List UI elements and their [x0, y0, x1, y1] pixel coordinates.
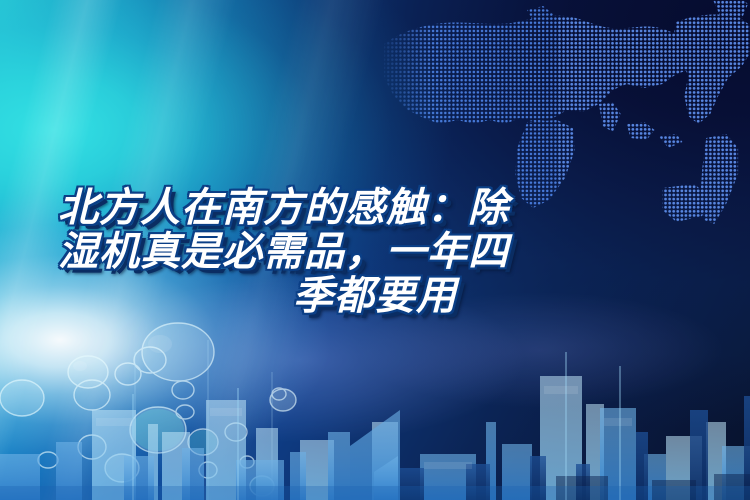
headline-line-1: 北方人在南方的感触：除 [58, 186, 692, 230]
headline-line-2: 湿机真是必需品，一年四 [58, 230, 692, 274]
banner-image: 北方人在南方的感触：除 湿机真是必需品，一年四 季都要用 [0, 0, 750, 500]
headline-block: 北方人在南方的感触：除 湿机真是必需品，一年四 季都要用 [0, 186, 750, 318]
headline-line-3: 季都要用 [58, 274, 692, 318]
city-skyline [0, 336, 750, 500]
